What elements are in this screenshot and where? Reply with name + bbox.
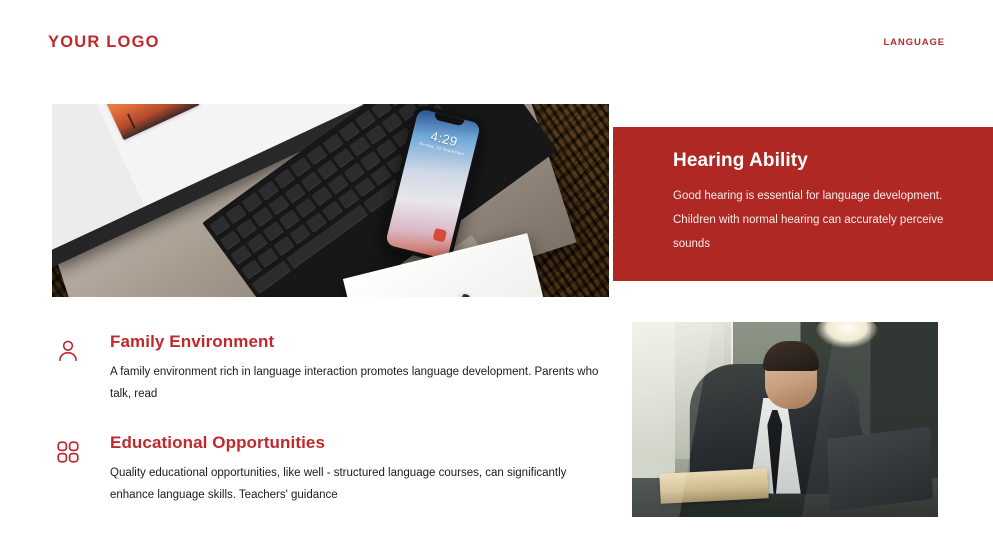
- feature-body: A family environment rich in language in…: [110, 361, 600, 405]
- hero-desk-photo: 4:29 Sunday, 22 September: [52, 104, 609, 297]
- site-header: YOUR LOGO LANGUAGE: [0, 0, 993, 88]
- hearing-ability-body: Good hearing is essential for language d…: [673, 184, 973, 256]
- feature-title: Educational Opportunities: [110, 433, 612, 453]
- screen-text-column: [187, 104, 339, 108]
- smartphone-app-badge: [433, 228, 448, 243]
- feature-family-environment: Family Environment A family environment …: [52, 332, 612, 405]
- businessman-photo: [632, 322, 938, 517]
- screen-photo-card: [100, 104, 200, 140]
- feature-body: Quality educational opportunities, like …: [110, 462, 600, 506]
- laptop-on-desk: [827, 427, 933, 512]
- feature-educational-opportunities: Educational Opportunities Quality educat…: [52, 433, 612, 506]
- language-link[interactable]: LANGUAGE: [883, 37, 945, 48]
- hearing-ability-panel: Hearing Ability Good hearing is essentia…: [613, 127, 993, 281]
- feature-title: Family Environment: [110, 332, 612, 352]
- hearing-ability-title: Hearing Ability: [673, 150, 808, 172]
- grid-four-squares-icon: [55, 439, 81, 465]
- logo[interactable]: YOUR LOGO: [48, 33, 160, 52]
- notebook-on-desk: [659, 469, 768, 505]
- person-icon: [55, 338, 81, 364]
- smartphone-notch: [434, 112, 465, 126]
- feature-list: Family Environment A family environment …: [52, 332, 612, 534]
